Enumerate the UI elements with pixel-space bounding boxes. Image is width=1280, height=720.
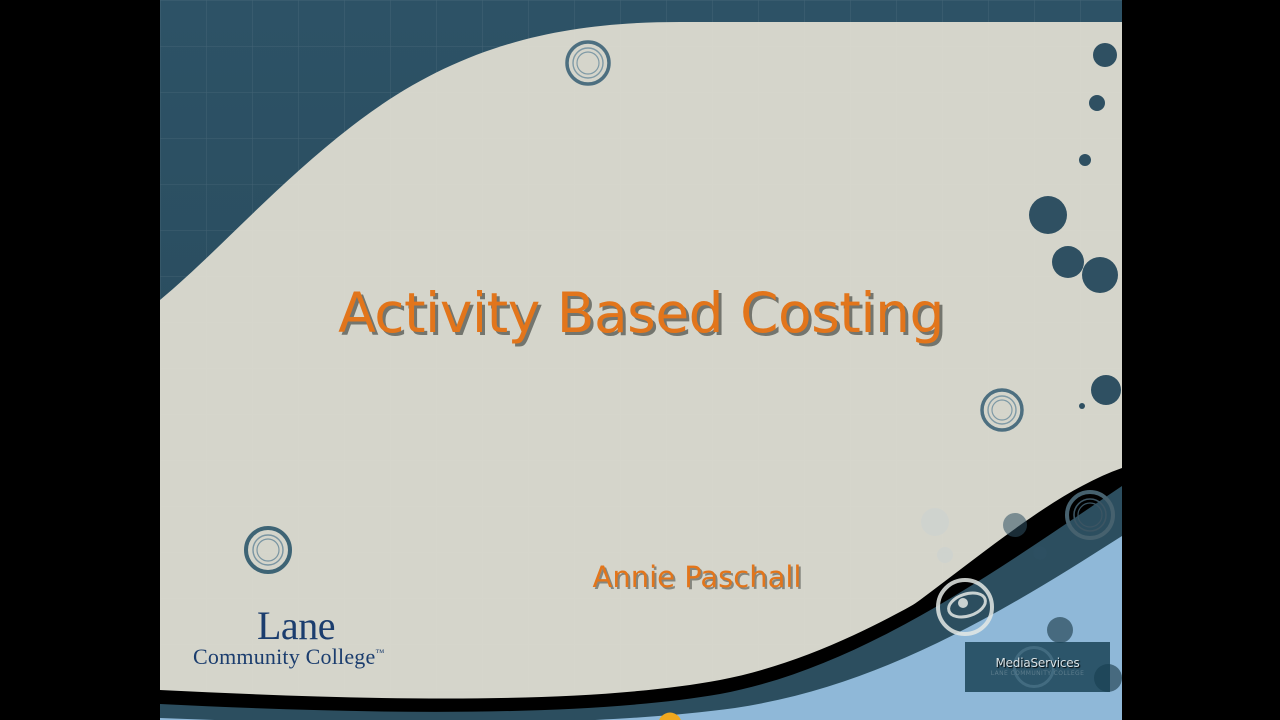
dot-l-icon (1047, 617, 1073, 643)
dot-e-icon (1082, 257, 1118, 293)
slide-background-artwork (160, 0, 1122, 720)
video-frame: Activity Based Costing Annie Paschall (0, 0, 1280, 720)
dot-c-icon (1029, 196, 1067, 234)
dot-h-icon (1079, 154, 1091, 166)
dot-b-icon (1089, 95, 1105, 111)
dot-g-icon (1079, 403, 1085, 409)
presentation-slide: Activity Based Costing Annie Paschall (160, 0, 1122, 720)
dot-a-icon (1093, 43, 1117, 67)
dot-j-icon (1033, 546, 1047, 560)
letterbox-left (0, 0, 160, 720)
dot-d-icon (1052, 246, 1084, 278)
dot-i-icon (1003, 513, 1027, 537)
dot-f-icon (1091, 375, 1121, 405)
dot-k-icon (1094, 664, 1122, 692)
light-dot-1-icon (921, 508, 949, 536)
light-dot-2-icon (937, 547, 953, 563)
letterbox-right (1122, 0, 1280, 720)
